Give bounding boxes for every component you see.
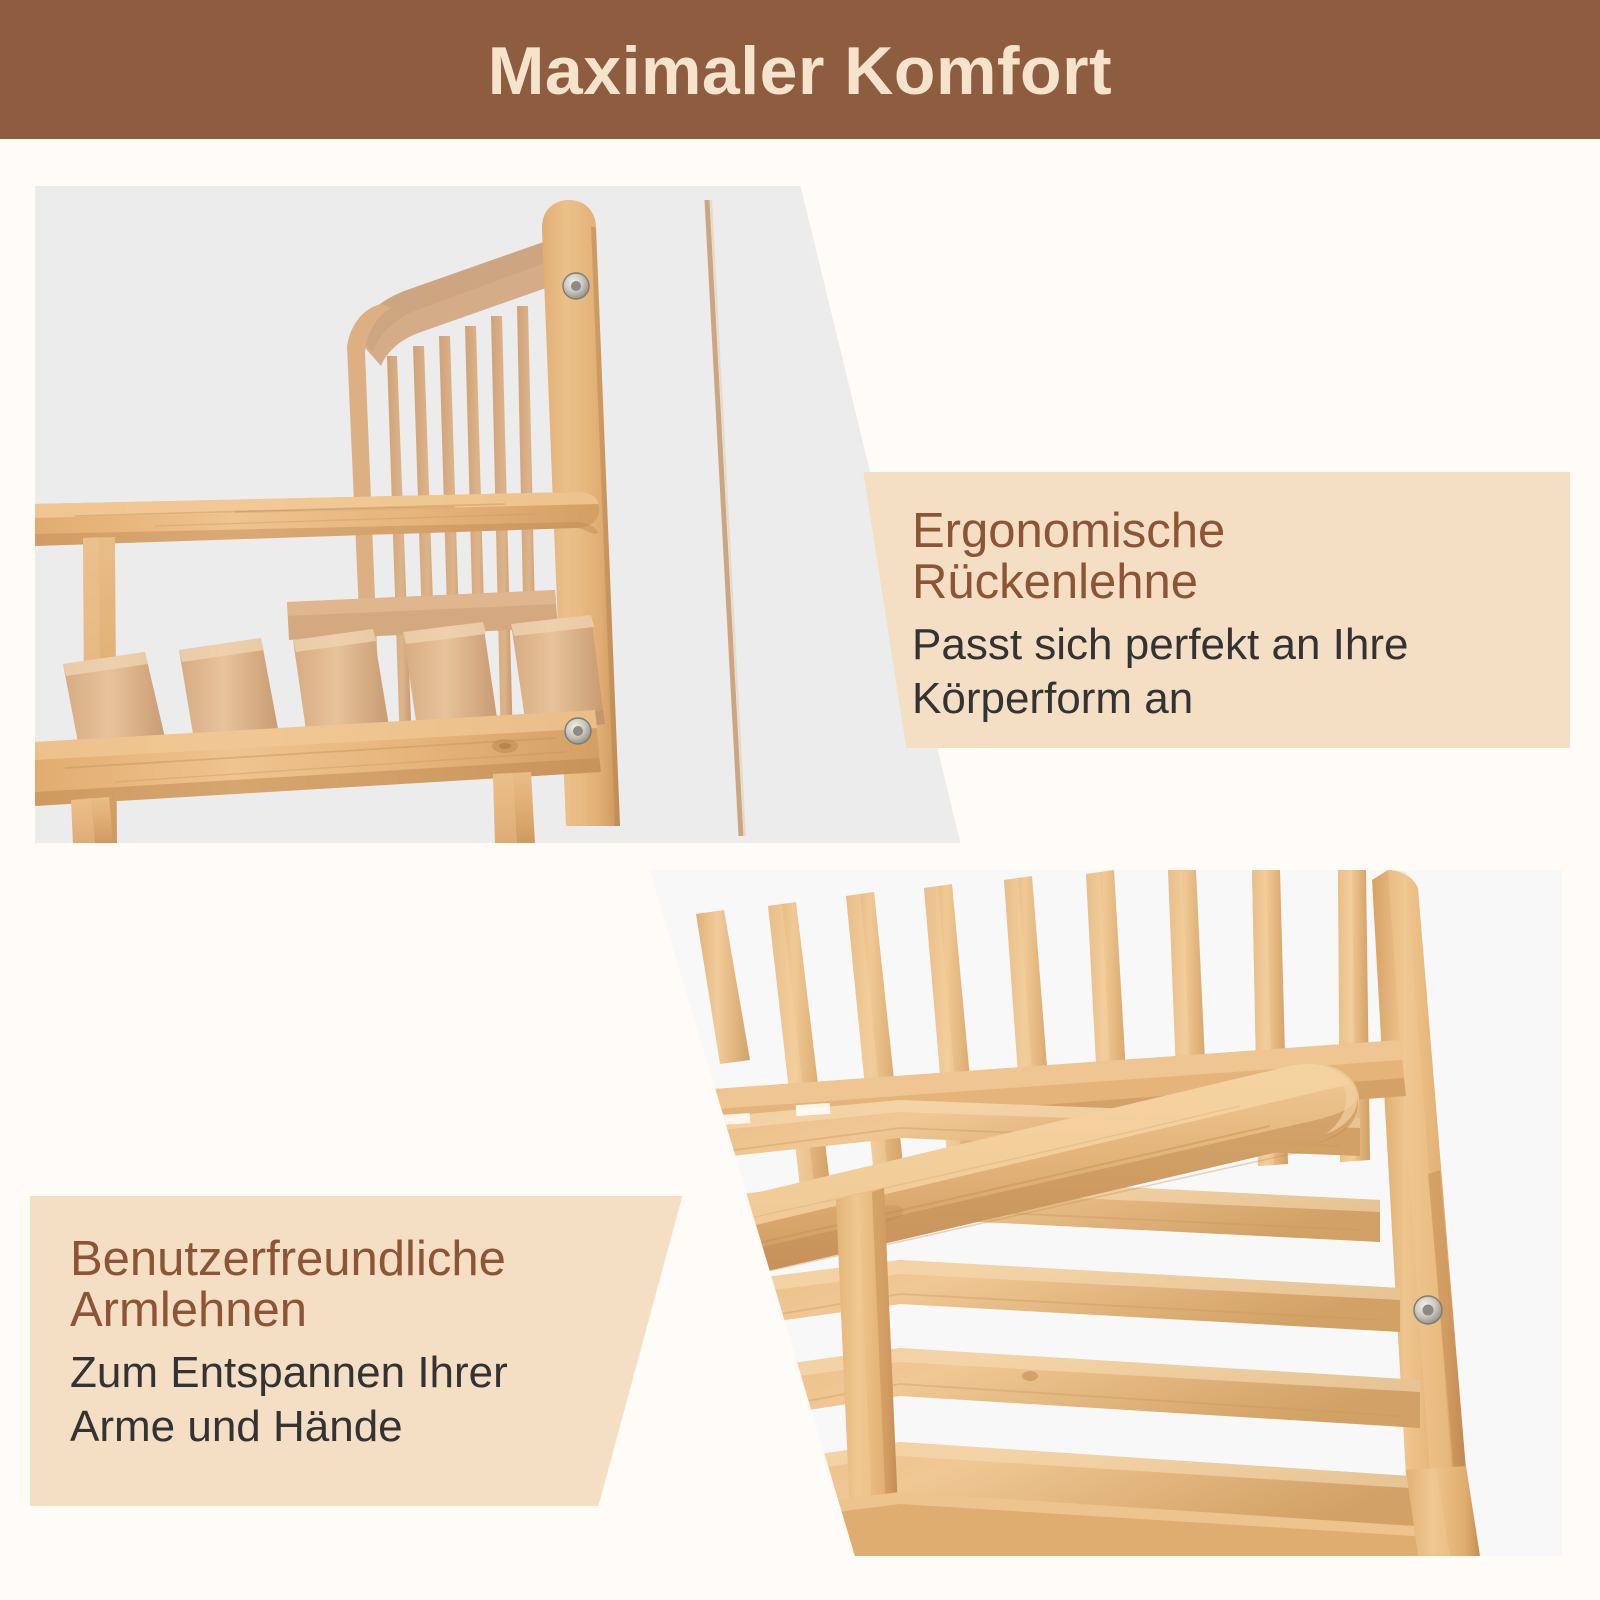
bench-armrest-closeup-illustration [600, 870, 1562, 1556]
header-banner: Maximaler Komfort [0, 0, 1600, 139]
page-title: Maximaler Komfort [488, 37, 1112, 105]
callout-heading-user-friendly-armrests: Benutzerfreundliche Armlehnen [70, 1234, 610, 1336]
product-feature-page: Maximaler Komfort [0, 0, 1600, 1600]
callout-heading-ergonomic-backrest: Ergonomische Rückenlehne [912, 506, 1530, 608]
photo-bench-side-view [35, 186, 965, 843]
bench-side-view-illustration [35, 186, 965, 843]
callout-user-friendly-armrests: Benutzerfreundliche Armlehnen Zum Entspa… [30, 1196, 730, 1506]
callout-body-user-friendly-armrests: Zum Entspannen Ihrer Arme und Hände [70, 1346, 610, 1453]
callout-body-ergonomic-backrest: Passt sich perfekt an Ihre Körperform an [912, 618, 1530, 725]
photo-bench-armrest-closeup [600, 870, 1562, 1556]
callout-ergonomic-backrest: Ergonomische Rückenlehne Passt sich perf… [790, 472, 1570, 748]
